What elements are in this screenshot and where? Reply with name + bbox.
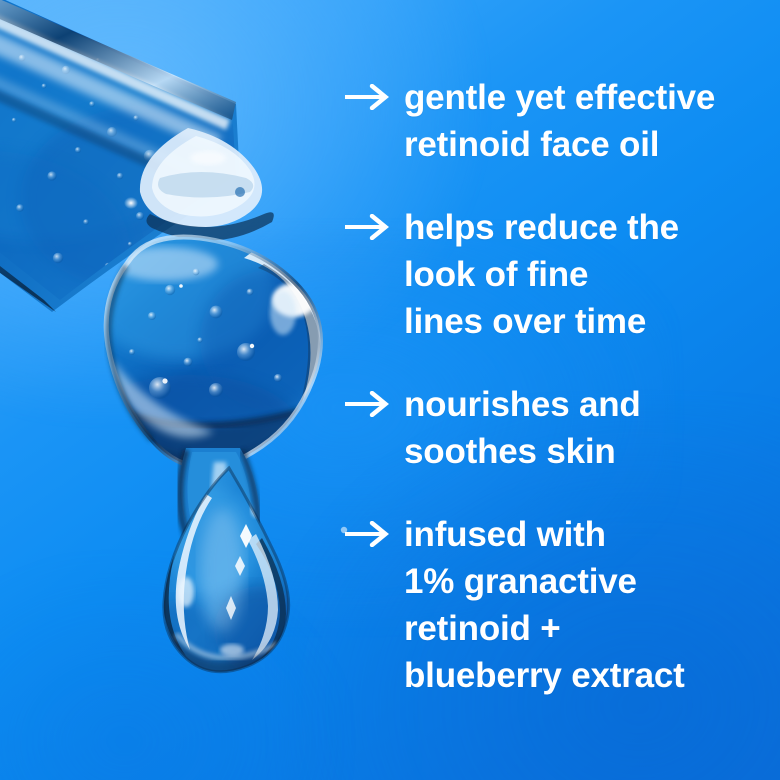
benefit-item: nourishes and soothes skin <box>344 381 764 475</box>
benefit-text: gentle yet effective retinoid face oil <box>404 74 764 168</box>
benefit-text: helps reduce the look of fine lines over… <box>404 204 764 345</box>
benefit-text: infused with 1% granactive retinoid + bl… <box>404 511 764 699</box>
background-shadow-bottom-left <box>0 562 343 780</box>
product-benefits-graphic: gentle yet effective retinoid face oil h… <box>0 0 780 780</box>
benefit-item: infused with 1% granactive retinoid + bl… <box>344 511 764 699</box>
benefit-text: nourishes and soothes skin <box>404 381 764 475</box>
arrow-right-icon <box>344 521 390 547</box>
benefits-list: gentle yet effective retinoid face oil h… <box>344 74 764 699</box>
arrow-right-icon <box>344 391 390 417</box>
arrow-right-icon <box>344 214 390 240</box>
arrow-right-icon <box>344 84 390 110</box>
benefit-item: helps reduce the look of fine lines over… <box>344 204 764 345</box>
benefit-item: gentle yet effective retinoid face oil <box>344 74 764 168</box>
